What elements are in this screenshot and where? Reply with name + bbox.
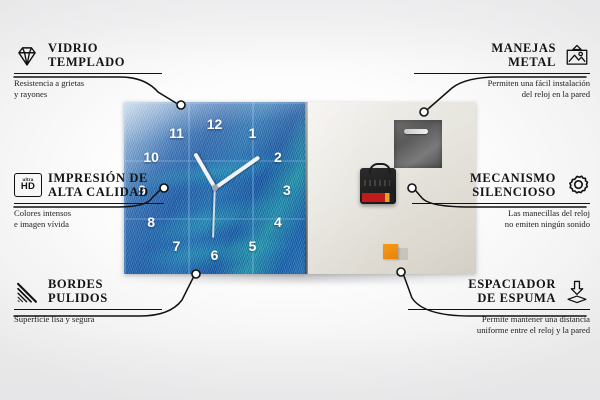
endpoint-marker-bordes: [192, 270, 200, 278]
feature-divider: [14, 73, 162, 74]
feature-desc-line1: Colores intensos: [14, 208, 189, 219]
feature-title-line1: VIDRIO: [48, 42, 125, 56]
feature-espaciador-espuma: ESPACIADOR DE ESPUMA Permite mantener un…: [404, 278, 590, 336]
feature-description: Colores intensos e imagen vívida: [14, 208, 189, 230]
feature-desc-line2: uniforme entre el reloj y la pared: [404, 325, 590, 336]
endpoint-marker-espaciador: [397, 268, 405, 276]
feature-title-line1: MANEJAS: [491, 42, 556, 56]
feature-description: Permite mantener una distancia uniforme …: [404, 314, 590, 336]
feature-desc-line2: no emiten ningún sonido: [408, 219, 590, 230]
feature-desc-line1: Superficie lisa y segura: [14, 314, 184, 325]
feature-header: VIDRIO TEMPLADO: [14, 42, 184, 69]
feature-vidrio-templado: VIDRIO TEMPLADO Resistencia a grietas y …: [14, 42, 184, 100]
ultra-hd-icon-main: HD: [21, 182, 35, 192]
feature-header: ESPACIADOR DE ESPUMA: [404, 278, 590, 305]
feature-title-line1: MECANISMO: [470, 172, 556, 186]
feature-title-line2: DE ESPUMA: [468, 292, 556, 306]
ultra-hd-icon: ultra HD: [14, 173, 40, 199]
feature-divider: [408, 309, 590, 310]
feature-title: VIDRIO TEMPLADO: [48, 42, 125, 69]
feature-title-line1: ESPACIADOR: [468, 278, 556, 292]
feature-description: Permiten una fácil instalación del reloj…: [410, 78, 590, 100]
foam-spacer-icon: [564, 279, 590, 305]
feature-title-line2: METAL: [491, 56, 556, 70]
feature-title-line2: ALTA CALIDAD: [48, 186, 149, 200]
feature-title: IMPRESIÓN DE ALTA CALIDAD: [48, 172, 149, 199]
feature-desc-line1: Resistencia a grietas: [14, 78, 184, 89]
feature-description: Resistencia a grietas y rayones: [14, 78, 184, 100]
feature-title-line2: SILENCIOSO: [470, 186, 556, 200]
feature-title: MANEJAS METAL: [491, 42, 556, 69]
feature-description: Las manecillas del reloj no emiten ningú…: [408, 208, 590, 230]
feature-header: ultra HD IMPRESIÓN DE ALTA CALIDAD: [14, 172, 189, 199]
endpoint-marker-vidrio: [177, 101, 185, 109]
feature-bordes-pulidos: BORDES PULIDOS Superficie lisa y segura: [14, 278, 184, 325]
infographic-canvas: 12 1 2 3 4 5 6 7 8 9 10 11: [0, 0, 600, 400]
feature-title: ESPACIADOR DE ESPUMA: [468, 278, 556, 305]
endpoint-marker-manejas: [420, 108, 428, 116]
feature-impresion-alta-calidad: ultra HD IMPRESIÓN DE ALTA CALIDAD Color…: [14, 172, 189, 230]
feature-divider: [14, 309, 162, 310]
feature-desc-line2: del reloj en la pared: [410, 89, 590, 100]
feature-title: MECANISMO SILENCIOSO: [470, 172, 556, 199]
gear-icon: [564, 173, 590, 199]
feature-desc-line1: Las manecillas del reloj: [408, 208, 590, 219]
polished-edge-icon: [14, 279, 40, 305]
picture-frame-icon: [564, 43, 590, 69]
feature-description: Superficie lisa y segura: [14, 314, 184, 325]
feature-header: BORDES PULIDOS: [14, 278, 184, 305]
feature-divider: [414, 73, 590, 74]
feature-desc-line2: e imagen vívida: [14, 219, 189, 230]
feature-desc-line1: Permiten una fácil instalación: [410, 78, 590, 89]
feature-desc-line2: y rayones: [14, 89, 184, 100]
feature-title-line2: PULIDOS: [48, 292, 108, 306]
feature-desc-line1: Permite mantener una distancia: [404, 314, 590, 325]
feature-header: MANEJAS METAL: [410, 42, 590, 69]
feature-title-line1: BORDES: [48, 278, 108, 292]
diamond-icon: [14, 43, 40, 69]
feature-mecanismo-silencioso: MECANISMO SILENCIOSO Las manecillas del …: [408, 172, 590, 230]
feature-title-line1: IMPRESIÓN DE: [48, 172, 149, 186]
feature-divider: [14, 203, 164, 204]
feature-header: MECANISMO SILENCIOSO: [408, 172, 590, 199]
feature-manejas-metal: MANEJAS METAL Permiten una fácil instala…: [410, 42, 590, 100]
feature-title-line2: TEMPLADO: [48, 56, 125, 70]
feature-divider: [412, 203, 590, 204]
feature-title: BORDES PULIDOS: [48, 278, 108, 305]
